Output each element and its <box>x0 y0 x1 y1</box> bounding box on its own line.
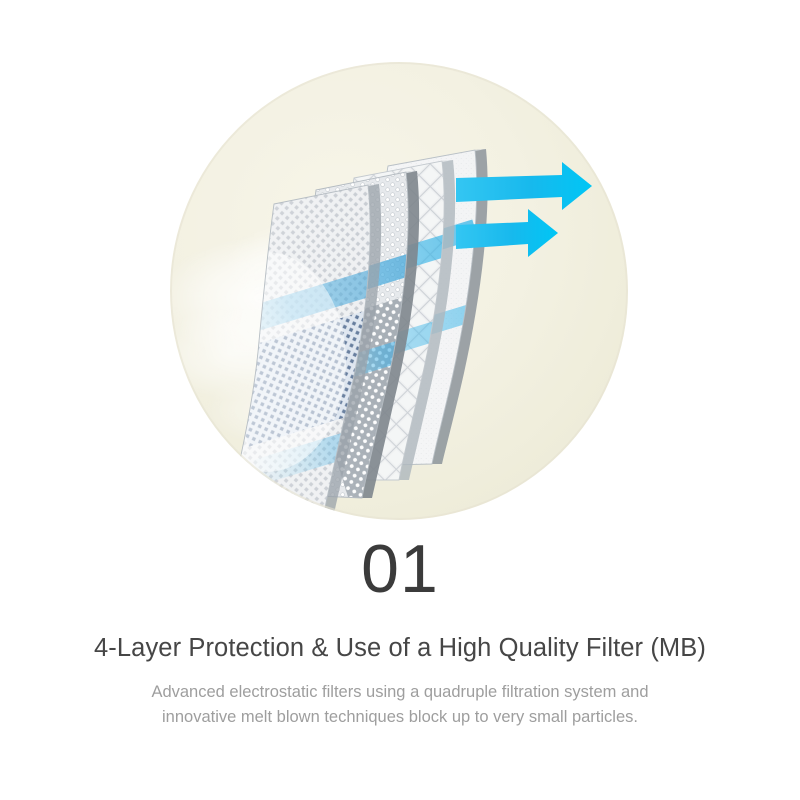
description-line-1: Advanced electrostatic filters using a q… <box>0 680 800 705</box>
hero-circle-backdrop <box>170 62 628 520</box>
filter-layers-illustration <box>170 62 628 520</box>
step-number: 01 <box>0 530 800 608</box>
feature-description: Advanced electrostatic filters using a q… <box>0 680 800 730</box>
product-feature-page: 01 4-Layer Protection & Use of a High Qu… <box>0 0 800 800</box>
filter-layers-svg <box>170 62 628 520</box>
description-line-2: innovative melt blown techniques block u… <box>0 705 800 730</box>
feature-headline: 4-Layer Protection & Use of a High Quali… <box>0 632 800 664</box>
feature-text-block: 01 4-Layer Protection & Use of a High Qu… <box>0 530 800 730</box>
